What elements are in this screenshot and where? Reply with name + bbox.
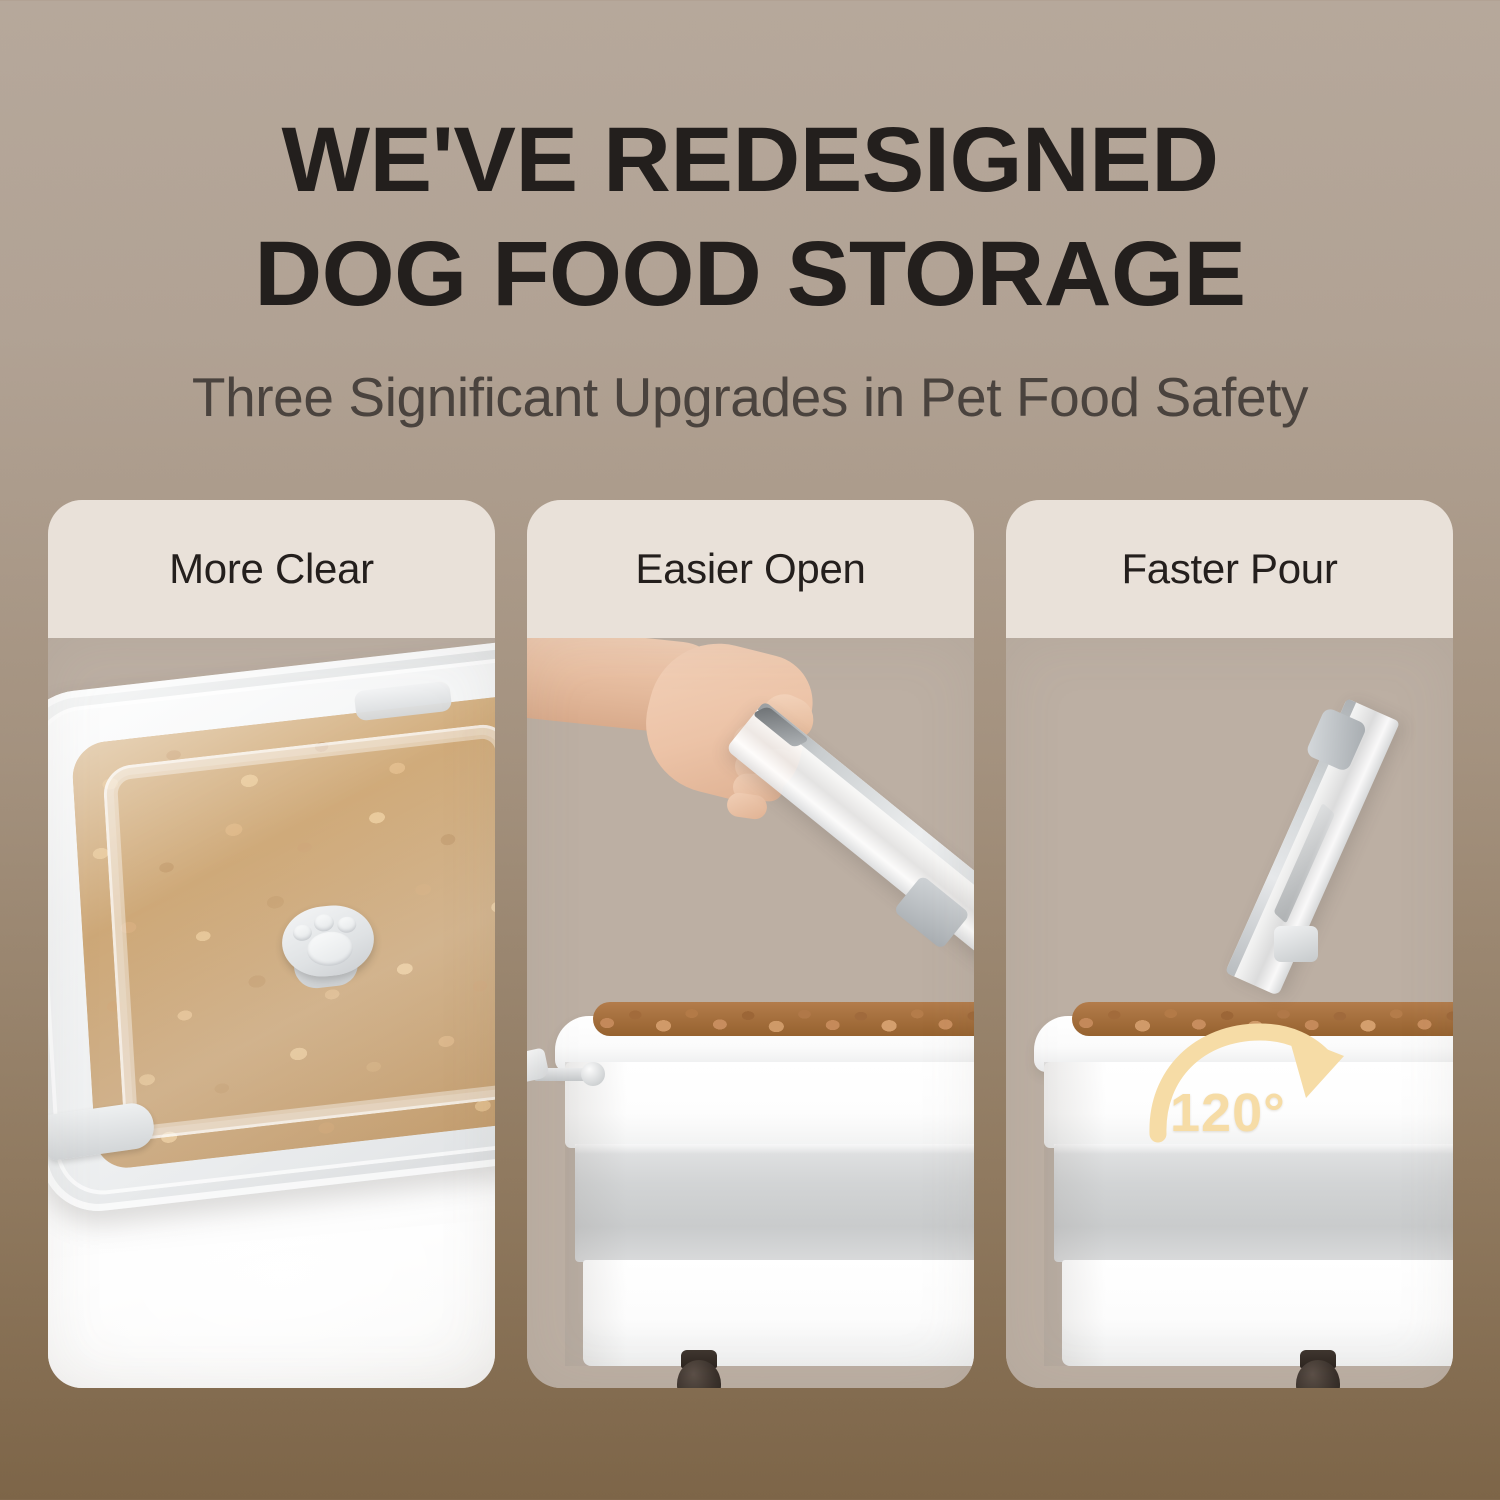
card-header-easier-open: Easier Open [527, 500, 974, 638]
paw-toe-2 [313, 913, 335, 932]
feature-card-row: More Clear [48, 500, 1455, 1388]
page-title-line1: WE'VE REDESIGNED [0, 104, 1500, 216]
lid-hinge-clip [1305, 706, 1368, 772]
card-label-faster-pour: Faster Pour [1121, 545, 1337, 593]
feature-card-easier-open[interactable]: Easier Open [527, 500, 974, 1388]
caster-wheel-left [673, 1350, 725, 1388]
feature-card-more-clear[interactable]: More Clear [48, 500, 495, 1388]
feature-card-faster-pour[interactable]: Faster Pour [1006, 500, 1453, 1388]
card-image-more-clear [48, 638, 495, 1388]
card-header-more-clear: More Clear [48, 500, 495, 638]
card-label-more-clear: More Clear [169, 545, 374, 593]
card-header-faster-pour: Faster Pour [1006, 500, 1453, 638]
page-title-line2: DOG FOOD STORAGE [0, 218, 1500, 330]
container-lower-white-band [583, 1260, 974, 1366]
latch-pivot-pin [581, 1062, 605, 1086]
page-subtitle: Three Significant Upgrades in Pet Food S… [0, 366, 1500, 428]
card-image-easier-open [527, 638, 974, 1388]
paw-toe-1 [292, 924, 313, 942]
lifted-transparent-lid [725, 701, 974, 963]
paw-toe-3 [336, 916, 357, 934]
paw-pad-main [305, 929, 355, 968]
card-label-easier-open: Easier Open [635, 545, 865, 593]
caster-wheel-right [1292, 1350, 1344, 1388]
container-lower-white-band [1062, 1260, 1453, 1366]
angle-value-label: 120° [1170, 1082, 1286, 1144]
caster-wheel-right [973, 1350, 974, 1388]
heading-block: WE'VE REDESIGNED DOG FOOD STORAGE Three … [0, 0, 1500, 428]
container-side-shading [565, 1062, 627, 1366]
food-container [555, 1016, 974, 1388]
kibble-pile [593, 1002, 974, 1036]
side-latch-arm [527, 1050, 607, 1092]
lid-hinge-clip [893, 875, 970, 950]
container-side-shading [1044, 1062, 1106, 1366]
container-gray-band [575, 1144, 974, 1262]
lid-hinge-base [1274, 926, 1318, 962]
card-image-faster-pour: 120° [1006, 638, 1453, 1388]
opening-angle-badge: 120° [1148, 1016, 1358, 1166]
